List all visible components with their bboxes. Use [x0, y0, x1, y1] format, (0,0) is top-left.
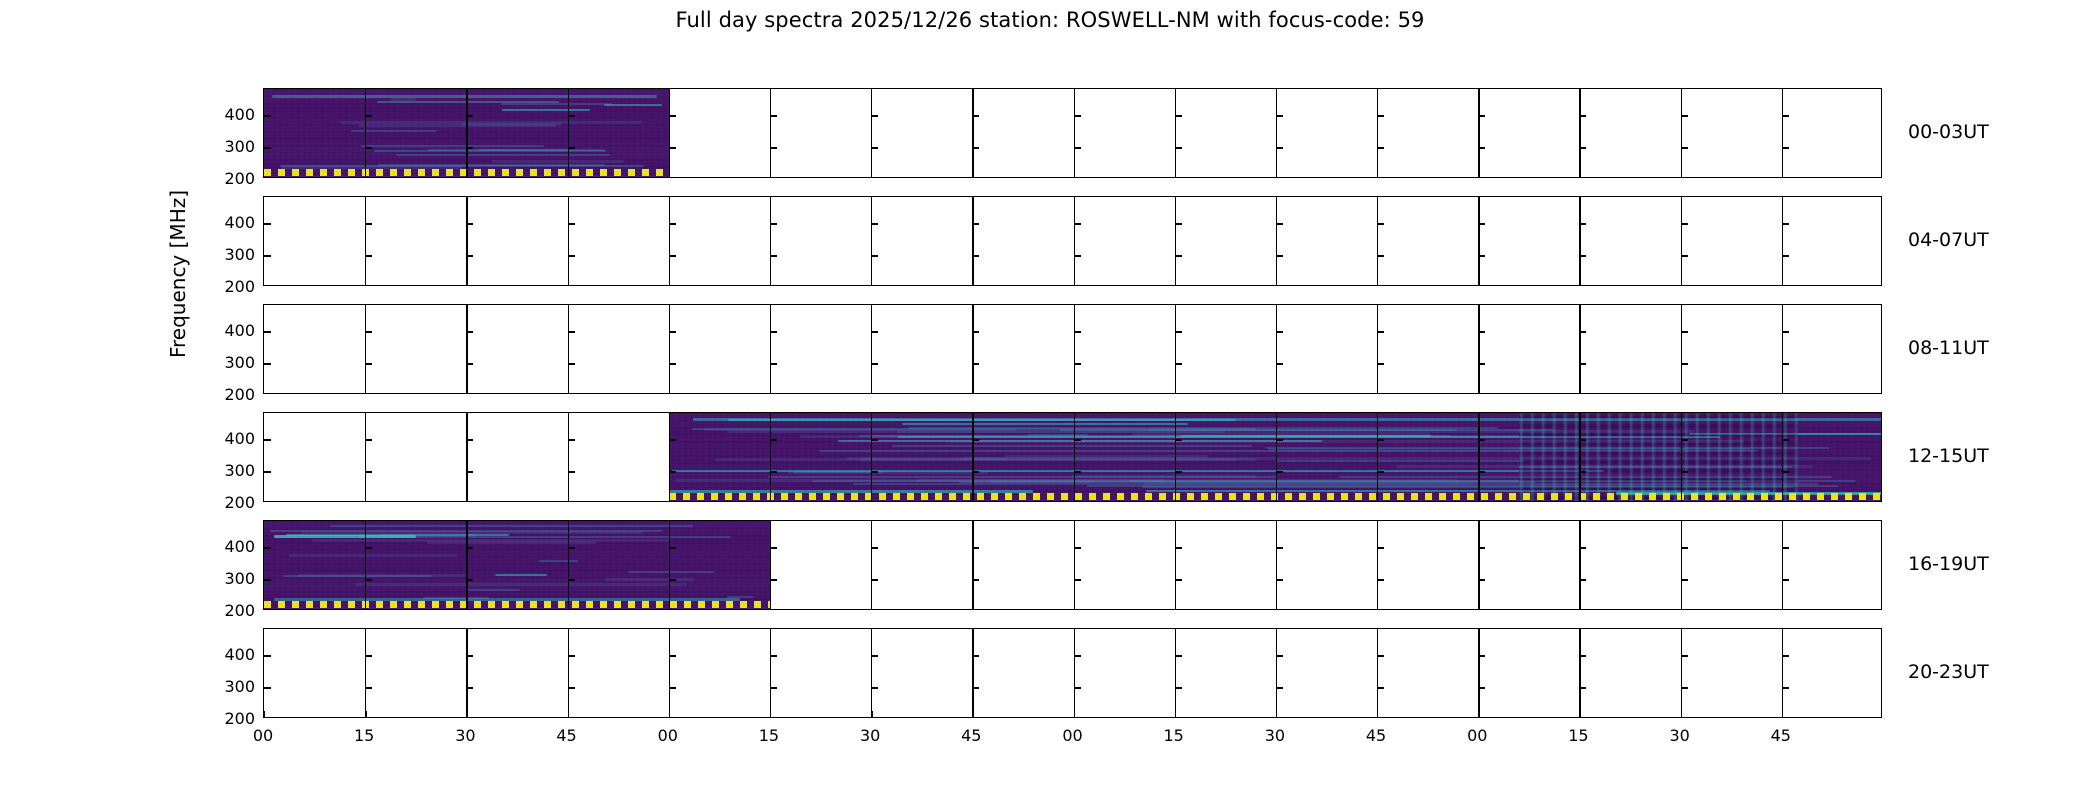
row-label-20-23ut: 20-23UT [1908, 661, 1989, 683]
y-tick-label: 400 [203, 213, 255, 232]
y-tick-mark [770, 655, 777, 656]
subpanel-separator [1478, 197, 1479, 285]
y-tick-mark [1579, 547, 1586, 548]
spectral-streak [495, 574, 548, 576]
subpanel-separator [871, 629, 872, 717]
y-tick-mark [1681, 255, 1688, 256]
y-tick-mark [1782, 147, 1789, 148]
x-tick-label: 15 [749, 726, 789, 745]
y-tick-mark [1074, 115, 1081, 116]
subpanel-separator [1074, 89, 1075, 177]
spectral-streak [351, 130, 437, 132]
subpanel-separator [770, 305, 771, 393]
subpanel-separator [1377, 521, 1378, 609]
subpanel-separator [1478, 89, 1479, 177]
subpanel-separator [1681, 305, 1682, 393]
y-tick-mark [972, 439, 979, 440]
subpanel-separator [1579, 305, 1580, 393]
y-tick-mark [568, 147, 575, 148]
y-tick-mark [770, 223, 777, 224]
bright-emission-line [280, 165, 644, 168]
y-tick-mark [568, 439, 575, 440]
y-tick-mark [568, 687, 575, 688]
spectral-streak [358, 124, 555, 127]
y-tick-mark [1681, 363, 1688, 364]
y-tick-mark [669, 223, 676, 224]
y-tick-mark [466, 115, 473, 116]
y-tick-mark [770, 115, 777, 116]
y-tick-mark [669, 687, 676, 688]
subpanel-separator [1782, 305, 1783, 393]
subpanel-separator [1579, 629, 1580, 717]
y-tick-mark [1478, 331, 1485, 332]
y-tick-mark [1782, 115, 1789, 116]
y-tick-mark [466, 331, 473, 332]
x-tick-mark [1579, 711, 1580, 717]
y-tick-mark [1377, 115, 1384, 116]
y-tick-label: 400 [203, 321, 255, 340]
y-tick-mark [1681, 115, 1688, 116]
y-tick-mark [365, 147, 372, 148]
y-tick-mark [1782, 255, 1789, 256]
y-tick-mark [466, 363, 473, 364]
subpanel-separator [972, 89, 973, 177]
subpanel-separator [568, 521, 569, 609]
y-tick-mark [568, 363, 575, 364]
y-tick-mark [1478, 547, 1485, 548]
y-tick-mark [669, 255, 676, 256]
subpanel-separator [1175, 629, 1176, 717]
subpanel-separator [568, 413, 569, 501]
spectral-streak [959, 481, 1535, 483]
y-tick-mark [1175, 687, 1182, 688]
x-tick-mark [264, 711, 265, 717]
y-tick-mark [466, 255, 473, 256]
y-tick-mark [1377, 331, 1384, 332]
y-tick-mark [1782, 471, 1789, 472]
y-tick-label: 400 [203, 105, 255, 124]
y-tick-label: 200 [203, 169, 255, 188]
y-tick-mark [871, 547, 878, 548]
y-tick-mark [1276, 115, 1283, 116]
y-tick-mark [1175, 439, 1182, 440]
y-tick-mark [1478, 579, 1485, 580]
y-tick-mark [466, 547, 473, 548]
y-tick-mark [669, 331, 676, 332]
subpanel-separator [770, 89, 771, 177]
y-tick-label: 200 [203, 277, 255, 296]
x-tick-label: 15 [344, 726, 384, 745]
y-axis-label: Frequency [MHz] [166, 154, 190, 394]
y-tick-mark [1276, 363, 1283, 364]
subpanel-separator [770, 629, 771, 717]
subpanel-separator [1175, 89, 1176, 177]
y-tick-mark [365, 687, 372, 688]
spectral-streak [330, 525, 692, 527]
y-tick-mark [871, 331, 878, 332]
y-tick-mark [264, 471, 271, 472]
subpanel-separator [770, 521, 771, 609]
y-tick-mark [770, 147, 777, 148]
y-tick-mark [1175, 471, 1182, 472]
y-tick-mark [972, 331, 979, 332]
y-tick-mark [1681, 579, 1688, 580]
y-tick-mark [1782, 223, 1789, 224]
y-tick-mark [1276, 579, 1283, 580]
interference-band [1519, 413, 1798, 501]
spectrogram-row-12-15ut [263, 412, 1882, 502]
y-tick-mark [1681, 687, 1688, 688]
y-tick-mark [1074, 363, 1081, 364]
y-tick-mark [1175, 547, 1182, 548]
y-tick-mark [365, 363, 372, 364]
subpanel-separator [365, 629, 366, 717]
subpanel-separator [466, 413, 467, 501]
subpanel-separator [1377, 305, 1378, 393]
y-tick-mark [1478, 471, 1485, 472]
y-tick-mark [871, 579, 878, 580]
y-tick-mark [365, 255, 372, 256]
y-tick-mark [1681, 439, 1688, 440]
x-tick-mark [1074, 711, 1075, 717]
spectrogram-row-08-11ut [263, 304, 1882, 394]
x-tick-label: 30 [850, 726, 890, 745]
y-tick-mark [770, 255, 777, 256]
spectral-streak [502, 109, 590, 111]
subpanel-separator [1377, 629, 1378, 717]
y-tick-mark [1175, 579, 1182, 580]
spectrogram-panel-stack [263, 88, 1882, 718]
y-tick-mark [871, 439, 878, 440]
x-tick-label: 30 [1255, 726, 1295, 745]
spectral-streak [289, 554, 457, 557]
y-tick-mark [871, 255, 878, 256]
subpanel-separator [669, 89, 670, 177]
y-tick-label: 200 [203, 601, 255, 620]
y-tick-mark [1478, 255, 1485, 256]
y-tick-mark [264, 255, 271, 256]
y-tick-mark [1377, 687, 1384, 688]
subpanel-separator [1782, 413, 1783, 501]
y-tick-mark [1175, 363, 1182, 364]
subpanel-separator [669, 413, 670, 501]
subpanel-separator [1579, 89, 1580, 177]
spectral-streak [715, 458, 1237, 461]
y-tick-mark [770, 471, 777, 472]
y-tick-mark [1276, 255, 1283, 256]
y-tick-mark [568, 547, 575, 548]
y-tick-mark [1782, 331, 1789, 332]
y-tick-label: 400 [203, 429, 255, 448]
subpanel-separator [1276, 197, 1277, 285]
y-tick-mark [365, 547, 372, 548]
subpanel-separator [1579, 413, 1580, 501]
subpanel-separator [1175, 521, 1176, 609]
subpanel-separator [466, 197, 467, 285]
subpanel-separator [1377, 197, 1378, 285]
y-tick-mark [669, 471, 676, 472]
spectral-streak [892, 445, 1252, 447]
subpanel-separator [365, 521, 366, 609]
y-tick-mark [1579, 115, 1586, 116]
y-tick-mark [972, 223, 979, 224]
subpanel-separator [1782, 629, 1783, 717]
subpanel-separator [1377, 413, 1378, 501]
y-tick-mark [264, 363, 271, 364]
y-tick-mark [871, 655, 878, 656]
y-tick-mark [1782, 439, 1789, 440]
subpanel-separator [1681, 89, 1682, 177]
x-tick-mark [365, 711, 366, 717]
x-tick-label: 30 [445, 726, 485, 745]
y-tick-mark [871, 471, 878, 472]
y-tick-mark [972, 115, 979, 116]
y-tick-mark [568, 115, 575, 116]
page-title: Full day spectra 2025/12/26 station: ROS… [0, 8, 2100, 32]
subpanel-separator [568, 89, 569, 177]
x-tick-mark [972, 711, 973, 717]
y-tick-mark [871, 363, 878, 364]
subpanel-separator [1478, 305, 1479, 393]
y-tick-mark [1579, 223, 1586, 224]
subpanel-separator [1681, 197, 1682, 285]
y-tick-mark [1276, 547, 1283, 548]
y-tick-label: 200 [203, 385, 255, 404]
y-tick-mark [264, 331, 271, 332]
x-tick-label: 45 [547, 726, 587, 745]
y-tick-mark [1782, 579, 1789, 580]
y-tick-mark [669, 115, 676, 116]
y-tick-mark [1074, 439, 1081, 440]
y-tick-mark [1681, 331, 1688, 332]
y-tick-mark [1276, 147, 1283, 148]
y-tick-mark [1782, 687, 1789, 688]
y-tick-label: 300 [203, 353, 255, 372]
x-tick-mark [1681, 711, 1682, 717]
y-tick-mark [264, 147, 271, 148]
x-tick-label: 00 [648, 726, 688, 745]
y-tick-mark [466, 655, 473, 656]
y-tick-mark [669, 655, 676, 656]
y-tick-mark [1074, 147, 1081, 148]
y-tick-mark [1478, 223, 1485, 224]
y-tick-mark [1276, 655, 1283, 656]
row-label-08-11ut: 08-11UT [1908, 337, 1989, 359]
bright-emission-line [272, 95, 657, 98]
y-tick-mark [1478, 687, 1485, 688]
baseline-marker-200mhz [264, 601, 770, 608]
subpanel-separator [972, 197, 973, 285]
x-tick-label: 00 [1053, 726, 1093, 745]
y-tick-mark [1579, 439, 1586, 440]
y-tick-mark [669, 547, 676, 548]
y-tick-mark [972, 363, 979, 364]
y-tick-mark [1377, 223, 1384, 224]
y-tick-mark [1175, 331, 1182, 332]
y-tick-mark [568, 579, 575, 580]
y-tick-mark [1579, 255, 1586, 256]
y-tick-mark [1074, 255, 1081, 256]
y-tick-mark [871, 115, 878, 116]
y-tick-label: 300 [203, 245, 255, 264]
y-tick-label: 300 [203, 677, 255, 696]
subpanel-separator [1276, 521, 1277, 609]
subpanel-separator [972, 305, 973, 393]
subpanel-separator [1377, 89, 1378, 177]
y-tick-mark [770, 579, 777, 580]
y-tick-mark [568, 223, 575, 224]
spectral-streak [479, 149, 605, 151]
y-tick-mark [1681, 471, 1688, 472]
y-tick-mark [871, 223, 878, 224]
y-tick-mark [365, 439, 372, 440]
y-tick-mark [466, 439, 473, 440]
y-tick-mark [1377, 471, 1384, 472]
y-tick-mark [669, 439, 676, 440]
y-tick-mark [466, 471, 473, 472]
row-label-16-19ut: 16-19UT [1908, 553, 1989, 575]
subpanel-separator [669, 197, 670, 285]
y-tick-mark [1579, 363, 1586, 364]
subpanel-separator [1782, 521, 1783, 609]
spectral-streak [1005, 455, 1208, 458]
y-tick-mark [264, 547, 271, 548]
row-label-12-15ut: 12-15UT [1908, 445, 1989, 467]
subpanel-separator [871, 413, 872, 501]
y-tick-mark [264, 223, 271, 224]
y-tick-mark [1579, 655, 1586, 656]
y-tick-mark [770, 439, 777, 440]
y-tick-mark [1074, 547, 1081, 548]
row-label-00-03ut: 00-03UT [1908, 121, 1989, 143]
spectrogram-row-16-19ut [263, 520, 1882, 610]
subpanel-separator [669, 521, 670, 609]
subpanel-separator [1579, 197, 1580, 285]
subpanel-separator [365, 197, 366, 285]
subpanel-separator [1478, 629, 1479, 717]
subpanel-separator [1681, 521, 1682, 609]
y-tick-mark [365, 655, 372, 656]
y-tick-mark [1377, 655, 1384, 656]
spectral-streak [501, 103, 612, 105]
y-tick-mark [466, 579, 473, 580]
subpanel-separator [1579, 521, 1580, 609]
y-tick-mark [1175, 147, 1182, 148]
subpanel-separator [466, 521, 467, 609]
x-tick-mark [1478, 711, 1479, 717]
subpanel-separator [972, 629, 973, 717]
x-tick-mark [871, 711, 872, 717]
y-tick-mark [1782, 655, 1789, 656]
subpanel-separator [466, 89, 467, 177]
subpanel-separator [871, 305, 872, 393]
y-tick-mark [1074, 687, 1081, 688]
spectral-streak [605, 578, 694, 581]
y-tick-mark [1579, 579, 1586, 580]
subpanel-separator [1276, 89, 1277, 177]
y-tick-mark [1579, 331, 1586, 332]
y-tick-mark [669, 579, 676, 580]
y-tick-mark [1681, 547, 1688, 548]
y-tick-mark [1782, 363, 1789, 364]
y-tick-mark [972, 147, 979, 148]
y-tick-mark [1478, 439, 1485, 440]
y-tick-mark [972, 255, 979, 256]
subpanel-separator [1175, 413, 1176, 501]
y-tick-mark [365, 115, 372, 116]
y-tick-mark [365, 471, 372, 472]
spectral-streak [628, 571, 715, 573]
bright-emission-line [274, 535, 416, 538]
y-tick-mark [1074, 655, 1081, 656]
subpanel-separator [1478, 521, 1479, 609]
y-tick-mark [466, 687, 473, 688]
y-tick-mark [1478, 363, 1485, 364]
subpanel-separator [669, 305, 670, 393]
subpanel-separator [669, 629, 670, 717]
subpanel-separator [466, 305, 467, 393]
subpanel-separator [1074, 629, 1075, 717]
subpanel-separator [871, 197, 872, 285]
subpanel-separator [1074, 197, 1075, 285]
subpanel-separator [1276, 629, 1277, 717]
y-tick-mark [1377, 363, 1384, 364]
subpanel-separator [365, 305, 366, 393]
y-tick-label: 400 [203, 537, 255, 556]
subpanel-separator [365, 413, 366, 501]
y-tick-mark [1276, 331, 1283, 332]
subpanel-separator [972, 521, 973, 609]
y-tick-mark [1175, 655, 1182, 656]
y-tick-mark [1175, 115, 1182, 116]
y-tick-mark [1478, 655, 1485, 656]
y-tick-mark [972, 687, 979, 688]
subpanel-separator [972, 413, 973, 501]
y-tick-mark [1377, 255, 1384, 256]
spectral-streak [768, 476, 1276, 478]
y-tick-label: 400 [203, 645, 255, 664]
x-tick-mark [1377, 711, 1378, 717]
x-tick-mark [1276, 711, 1277, 717]
y-tick-mark [365, 579, 372, 580]
subpanel-separator [1782, 197, 1783, 285]
y-tick-mark [1175, 255, 1182, 256]
spectral-streak [468, 589, 520, 591]
y-tick-mark [1478, 115, 1485, 116]
subpanel-separator [365, 89, 366, 177]
subpanel-separator [1175, 197, 1176, 285]
subpanel-separator [770, 413, 771, 501]
x-tick-mark [466, 711, 467, 717]
y-tick-mark [568, 331, 575, 332]
subpanel-separator [568, 629, 569, 717]
y-tick-mark [1074, 579, 1081, 580]
y-tick-label: 300 [203, 137, 255, 156]
y-tick-mark [1377, 147, 1384, 148]
y-tick-mark [770, 331, 777, 332]
subpanel-separator [1276, 413, 1277, 501]
spectral-streak [396, 154, 610, 156]
x-tick-label: 30 [1660, 726, 1700, 745]
y-tick-mark [264, 115, 271, 116]
y-tick-mark [1074, 331, 1081, 332]
spectral-streak [361, 145, 544, 147]
y-tick-mark [1579, 687, 1586, 688]
subpanel-separator [568, 305, 569, 393]
y-tick-mark [770, 363, 777, 364]
subpanel-separator [568, 197, 569, 285]
y-tick-mark [568, 471, 575, 472]
